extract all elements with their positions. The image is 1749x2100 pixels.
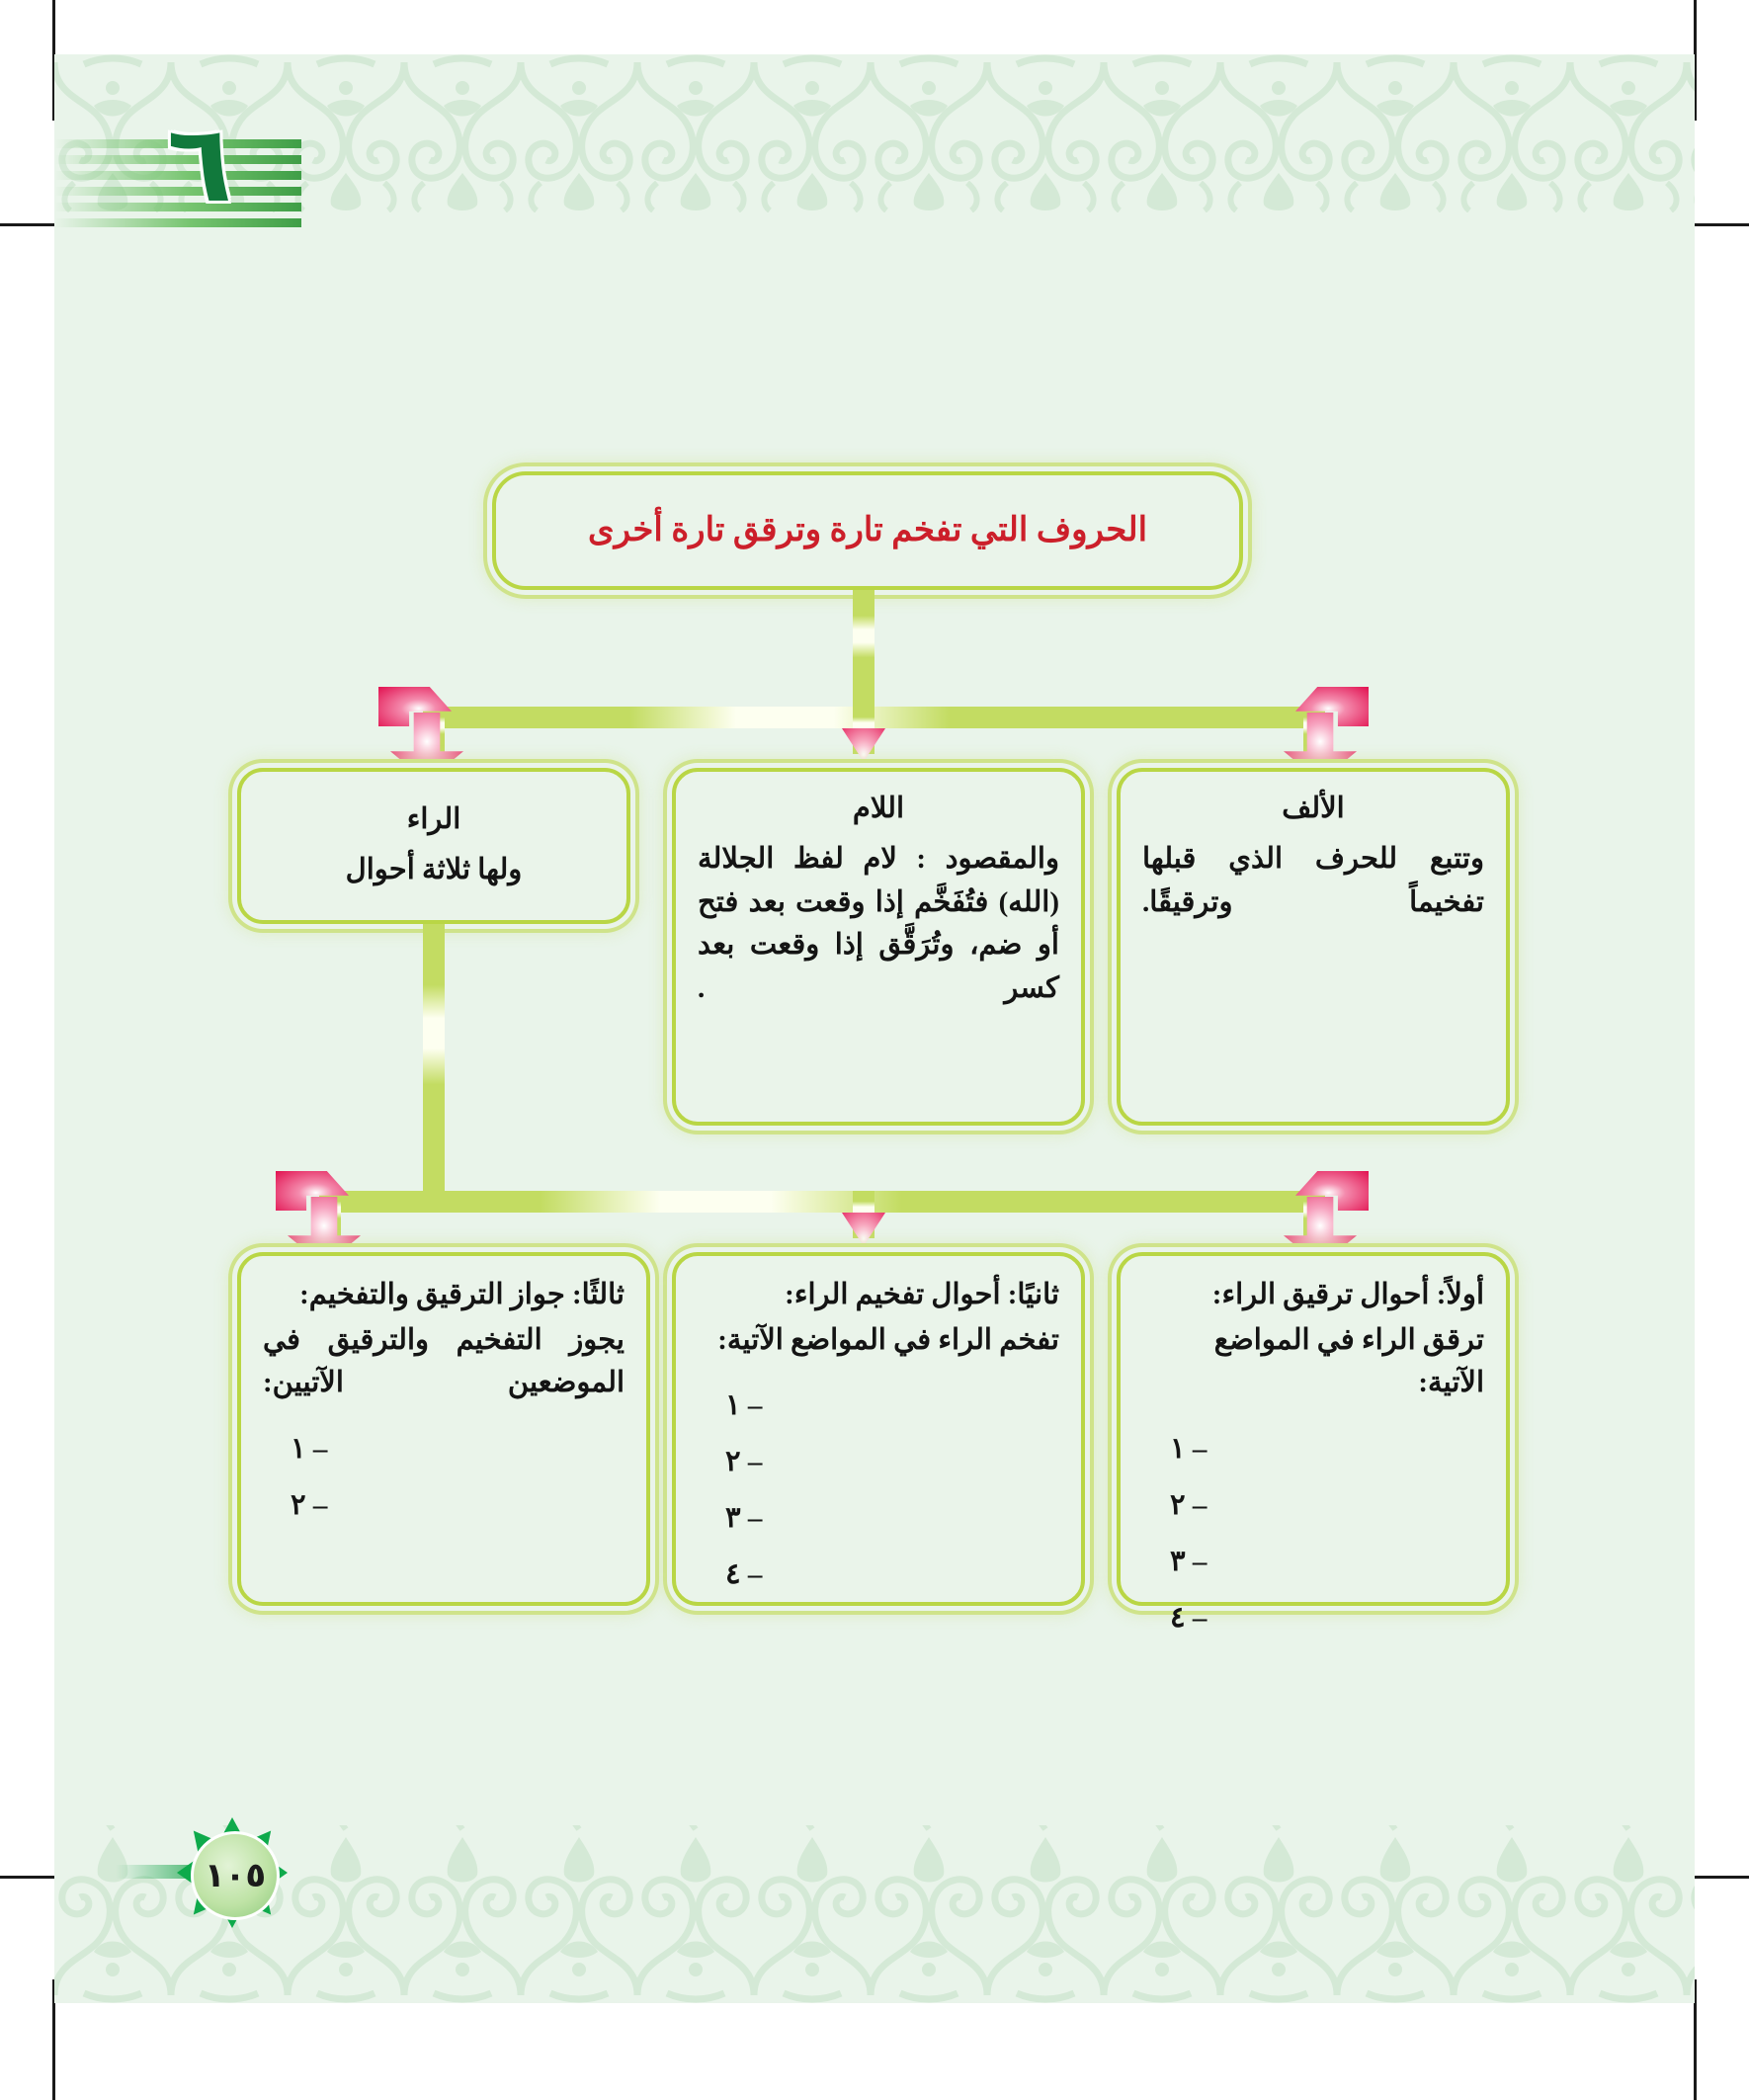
blank-item[interactable]: ٤ – xyxy=(1142,1600,1484,1635)
node-lam-body: والمقصود : لام لفظ الجلالة (الله) فتُفَخ… xyxy=(698,838,1059,1010)
node-third-blanks: ١ – ٢ – xyxy=(263,1409,625,1522)
node-raa-body: ولها ثلاثة أحوال xyxy=(263,849,605,892)
arrow-marker-level1-center xyxy=(842,728,885,762)
node-second-body: تفخم الراء في المواضع الآتية: xyxy=(698,1319,1059,1363)
root-title: الحروف التي تفخم تارة وترقق تارة أخرى xyxy=(588,508,1147,553)
page-number-text: ١٠٥ xyxy=(205,1856,266,1895)
connector-level1-bus xyxy=(434,707,1323,728)
blank-item[interactable]: ٣ – xyxy=(1142,1544,1484,1578)
connector-raa-stem xyxy=(423,924,445,1201)
page-sheet: ٦ الحروف التي تفخم تارة وترقق تارة أخرى … xyxy=(54,54,1695,2003)
blank-item[interactable]: ١ – xyxy=(1142,1431,1484,1466)
node-raa-jawaz[interactable]: ثالثًا: جواز الترقيق والتفخيم: يجوز التف… xyxy=(237,1252,650,1606)
blank-item[interactable]: ٢ – xyxy=(1142,1487,1484,1522)
blank-item[interactable]: ٢ – xyxy=(698,1444,1059,1478)
blank-item[interactable]: ١ – xyxy=(263,1431,625,1466)
connector-root-stem xyxy=(853,590,874,707)
node-alef-body: وتتبع للحرف الذي قبلها تفخيماً وترقيقًا. xyxy=(1142,838,1484,924)
connector-level2-bus xyxy=(319,1191,1323,1213)
flowchart: الحروف التي تفخم تارة وترقق تارة أخرى ال… xyxy=(54,54,1695,2003)
blank-item[interactable]: ٢ – xyxy=(263,1487,625,1522)
page-badge-circle: ١٠٥ xyxy=(191,1831,280,1920)
node-alef[interactable]: الألف وتتبع للحرف الذي قبلها تفخيماً وتر… xyxy=(1117,768,1510,1126)
node-lam-title: اللام xyxy=(853,790,904,828)
node-raa-title: الراء xyxy=(407,800,461,839)
blank-item[interactable]: ١ – xyxy=(698,1387,1059,1422)
node-raa-tafkheem[interactable]: ثانيًا: أحوال تفخيم الراء: تفخم الراء في… xyxy=(672,1252,1085,1606)
node-first-body: ترقق الراء في المواضع الآتية: xyxy=(1142,1319,1484,1405)
node-alef-title: الألف xyxy=(1282,790,1344,828)
node-first-blanks: ١ – ٢ – ٣ – ٤ – xyxy=(1142,1409,1484,1635)
node-second-title: ثانيًا: أحوال تفخيم الراء: xyxy=(698,1274,1059,1317)
arrow-marker-level2-center xyxy=(842,1213,885,1246)
node-raa[interactable]: الراء ولها ثلاثة أحوال xyxy=(237,768,630,924)
blank-item[interactable]: ٣ – xyxy=(698,1500,1059,1535)
node-first-title: أولاً: أحوال ترقيق الراء: xyxy=(1142,1274,1484,1317)
node-lam[interactable]: اللام والمقصود : لام لفظ الجلالة (الله) … xyxy=(672,768,1085,1126)
node-raa-tarqeeq[interactable]: أولاً: أحوال ترقيق الراء: ترقق الراء في … xyxy=(1117,1252,1510,1606)
blank-item[interactable]: ٤ – xyxy=(698,1556,1059,1591)
node-second-blanks: ١ – ٢ – ٣ – ٤ – xyxy=(698,1366,1059,1591)
node-third-body: يجوز التفخيم والترقيق في الموضعين الآتيي… xyxy=(263,1319,625,1405)
flowchart-root-node[interactable]: الحروف التي تفخم تارة وترقق تارة أخرى xyxy=(492,471,1243,590)
page-number-badge: ١٠٥ xyxy=(116,1813,353,1930)
node-third-title: ثالثًا: جواز الترقيق والتفخيم: xyxy=(263,1274,625,1317)
